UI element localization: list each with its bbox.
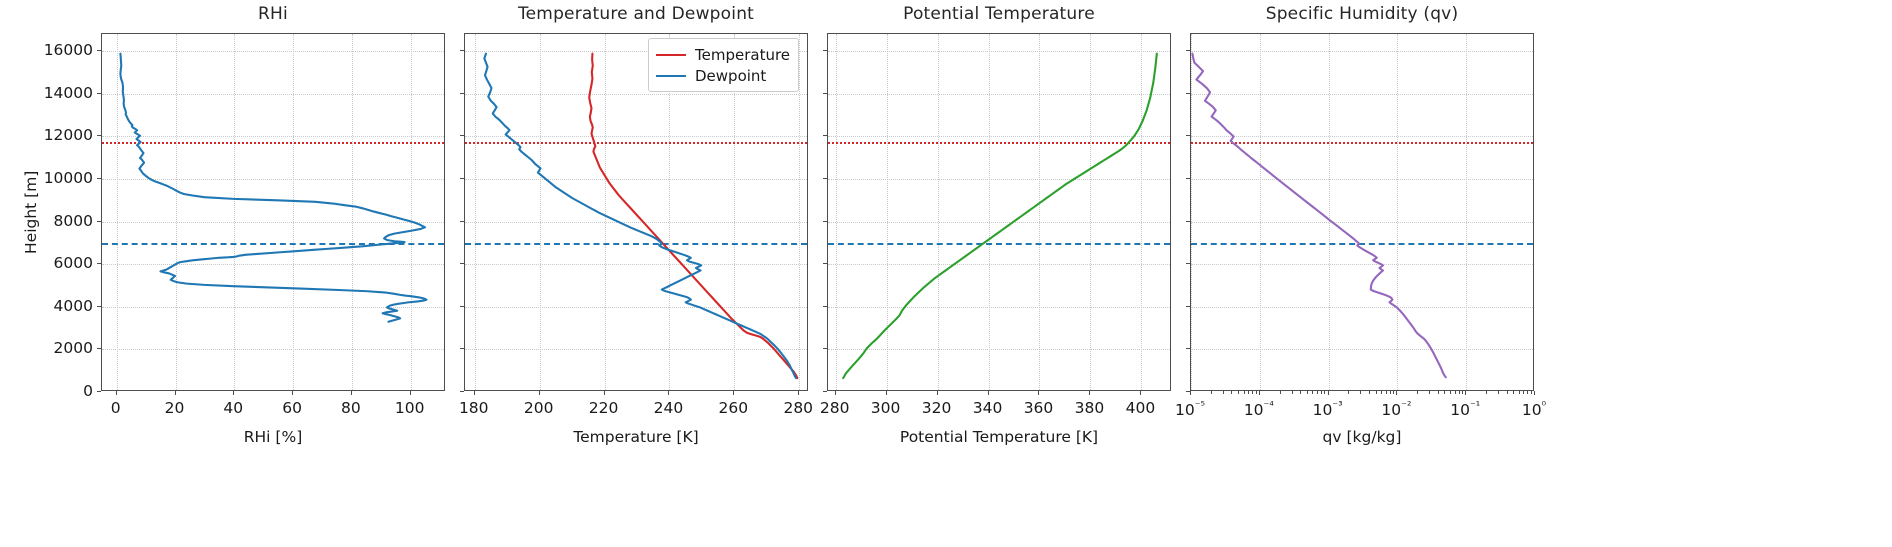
legend-item-dewpoint[interactable]: Dewpoint (656, 65, 790, 86)
legend-swatch-dewpoint (656, 75, 686, 77)
y-tick-mark (823, 348, 827, 349)
x-tick-label: 10⁻² (1381, 399, 1411, 419)
x-minor-tick (1244, 391, 1245, 394)
x-tick-label: 80 (341, 399, 361, 417)
x-tick-label: 10⁻⁴ (1244, 399, 1274, 419)
x-tick-label: 320 (922, 399, 952, 417)
y-tick-mark (97, 178, 101, 179)
y-tick-mark (460, 306, 464, 307)
x-tick-mark (233, 391, 234, 395)
x-tick-mark (988, 391, 989, 395)
x-minor-tick (1523, 391, 1524, 394)
x-tick-label: 40 (223, 399, 243, 417)
panel-title-1: RHi (101, 4, 445, 24)
y-tick-mark (1186, 348, 1190, 349)
x-tick-label: 100 (395, 399, 425, 417)
y-tick-mark (1186, 135, 1190, 136)
y-tick-mark (460, 135, 464, 136)
legend-item-temperature[interactable]: Temperature (656, 44, 790, 65)
x-tick-label: 10⁻³ (1313, 399, 1343, 419)
x-minor-tick (1459, 391, 1460, 394)
x-minor-tick (1317, 391, 1318, 394)
y-tick-mark (1186, 221, 1190, 222)
x-tick-label: 280 (820, 399, 850, 417)
x-tick-mark (474, 391, 475, 395)
panel-title-2: Temperature and Dewpoint (464, 4, 808, 24)
y-tick-mark (823, 221, 827, 222)
y-tick-mark (460, 221, 464, 222)
x-tick-mark (116, 391, 117, 395)
x-minor-tick (1462, 391, 1463, 394)
x-tick-mark (175, 391, 176, 395)
x-minor-tick (1348, 391, 1349, 394)
series-line-dewpoint (484, 54, 796, 378)
x-minor-tick (1438, 391, 1439, 394)
x-tick-mark (1534, 391, 1535, 395)
x-tick-mark (1396, 391, 1397, 395)
series-canvas (102, 34, 444, 390)
y-tick-label: 12000 (39, 126, 93, 144)
y-tick-mark (97, 263, 101, 264)
series-line-rhi (120, 54, 426, 322)
x-tick-label: 220 (589, 399, 619, 417)
x-tick-mark (410, 391, 411, 395)
x-minor-tick (1390, 391, 1391, 394)
x-tick-label: 200 (524, 399, 554, 417)
x-tick-mark (539, 391, 540, 395)
x-tick-label: 400 (1126, 399, 1156, 417)
x-minor-tick (1498, 391, 1499, 394)
x-minor-tick (1252, 391, 1253, 394)
x-minor-tick (1292, 391, 1293, 394)
x-minor-tick (1324, 391, 1325, 394)
x-minor-tick (1223, 391, 1224, 394)
legend-label: Dewpoint (695, 67, 766, 85)
x-tick-mark (668, 391, 669, 395)
x-tick-label: 380 (1075, 399, 1105, 417)
panel-title-4: Specific Humidity (qv) (1190, 4, 1534, 24)
y-tick-mark (97, 348, 101, 349)
x-minor-tick (1455, 391, 1456, 394)
y-tick-mark (97, 135, 101, 136)
series-canvas (828, 34, 1170, 390)
x-minor-tick (1519, 391, 1520, 394)
x-minor-tick (1417, 391, 1418, 394)
y-tick-mark (460, 348, 464, 349)
x-minor-tick (1360, 391, 1361, 394)
x-tick-label: 20 (165, 399, 185, 417)
x-tick-mark (1089, 391, 1090, 395)
x-tick-label: 10⁻⁵ (1175, 399, 1205, 419)
x-minor-tick (1369, 391, 1370, 394)
x-tick-mark (604, 391, 605, 395)
x-tick-mark (292, 391, 293, 395)
x-minor-tick (1527, 391, 1528, 394)
y-tick-label: 0 (39, 382, 93, 400)
y-tick-label: 16000 (39, 41, 93, 59)
series-line-potential-temperature (843, 54, 1157, 378)
x-minor-tick (1300, 391, 1301, 394)
series-line-qv (1192, 54, 1445, 378)
x-minor-tick (1238, 391, 1239, 394)
y-tick-label: 14000 (39, 84, 93, 102)
x-tick-mark (733, 391, 734, 395)
x-tick-mark (1038, 391, 1039, 395)
y-axis-title: Height [m] (22, 171, 40, 254)
x-tick-label: 300 (871, 399, 901, 417)
x-tick-label: 340 (973, 399, 1003, 417)
y-tick-mark (1186, 306, 1190, 307)
plot-clip (102, 34, 444, 390)
x-minor-tick (1513, 391, 1514, 394)
y-tick-mark (823, 178, 827, 179)
y-tick-mark (460, 50, 464, 51)
x-axis-title-3: Potential Temperature [K] (900, 428, 1098, 446)
y-tick-mark (1186, 178, 1190, 179)
x-tick-label: 10⁻¹ (1450, 399, 1480, 419)
legend-swatch-temperature (656, 54, 686, 56)
y-tick-label: 10000 (39, 169, 93, 187)
y-tick-mark (97, 50, 101, 51)
y-tick-mark (1186, 263, 1190, 264)
x-tick-label: 280 (783, 399, 813, 417)
series-canvas (1191, 34, 1533, 390)
y-tick-mark (97, 93, 101, 94)
y-tick-label: 4000 (39, 297, 93, 315)
x-tick-label: 180 (459, 399, 489, 417)
x-tick-mark (798, 391, 799, 395)
x-tick-label: 10⁰ (1522, 399, 1546, 419)
x-axis-title-4: qv [kg/kg] (1323, 428, 1402, 446)
y-tick-mark (823, 135, 827, 136)
y-tick-mark (1186, 50, 1190, 51)
y-tick-mark (97, 221, 101, 222)
y-tick-mark (823, 93, 827, 94)
x-axis-title-2: Temperature [K] (573, 428, 698, 446)
y-tick-mark (1186, 391, 1190, 392)
x-minor-tick (1507, 391, 1508, 394)
y-tick-label: 2000 (39, 339, 93, 357)
y-tick-mark (1186, 93, 1190, 94)
x-tick-mark (1465, 391, 1466, 395)
panel-title-3: Potential Temperature (827, 4, 1171, 24)
y-tick-mark (460, 391, 464, 392)
plot-area-4 (1190, 33, 1534, 391)
x-tick-mark (1259, 391, 1260, 395)
x-tick-mark (1328, 391, 1329, 395)
figure-root: RHi0204060801000200040006000800010000120… (0, 0, 1892, 547)
legend: TemperatureDewpoint (648, 38, 799, 92)
y-tick-mark (823, 263, 827, 264)
y-tick-label: 8000 (39, 212, 93, 230)
x-minor-tick (1531, 391, 1532, 394)
x-tick-mark (1140, 391, 1141, 395)
x-minor-tick (1486, 391, 1487, 394)
x-tick-mark (835, 391, 836, 395)
y-tick-mark (460, 178, 464, 179)
x-axis-title-1: RHi [%] (244, 428, 302, 446)
plot-clip (1191, 34, 1533, 390)
y-tick-mark (823, 50, 827, 51)
x-tick-mark (886, 391, 887, 395)
x-minor-tick (1231, 391, 1232, 394)
x-minor-tick (1256, 391, 1257, 394)
x-tick-label: 60 (282, 399, 302, 417)
x-minor-tick (1280, 391, 1281, 394)
plot-area-3 (827, 33, 1171, 391)
y-tick-mark (97, 306, 101, 307)
legend-label: Temperature (695, 46, 790, 64)
x-minor-tick (1450, 391, 1451, 394)
y-tick-mark (97, 391, 101, 392)
x-minor-tick (1248, 391, 1249, 394)
x-minor-tick (1312, 391, 1313, 394)
y-tick-label: 6000 (39, 254, 93, 272)
y-tick-mark (823, 391, 827, 392)
series-line-temperature (589, 54, 797, 378)
x-tick-mark (351, 391, 352, 395)
x-minor-tick (1321, 391, 1322, 394)
x-minor-tick (1393, 391, 1394, 394)
x-minor-tick (1386, 391, 1387, 394)
y-tick-mark (823, 306, 827, 307)
x-tick-mark (937, 391, 938, 395)
x-tick-label: 260 (719, 399, 749, 417)
x-minor-tick (1376, 391, 1377, 394)
x-minor-tick (1444, 391, 1445, 394)
plot-clip (828, 34, 1170, 390)
x-minor-tick (1307, 391, 1308, 394)
x-tick-label: 0 (111, 399, 121, 417)
x-minor-tick (1381, 391, 1382, 394)
plot-area-1 (101, 33, 445, 391)
y-tick-mark (460, 93, 464, 94)
x-minor-tick (1429, 391, 1430, 394)
x-tick-label: 360 (1024, 399, 1054, 417)
y-tick-mark (460, 263, 464, 264)
x-minor-tick (1211, 391, 1212, 394)
x-tick-mark (1190, 391, 1191, 395)
x-tick-label: 240 (654, 399, 684, 417)
